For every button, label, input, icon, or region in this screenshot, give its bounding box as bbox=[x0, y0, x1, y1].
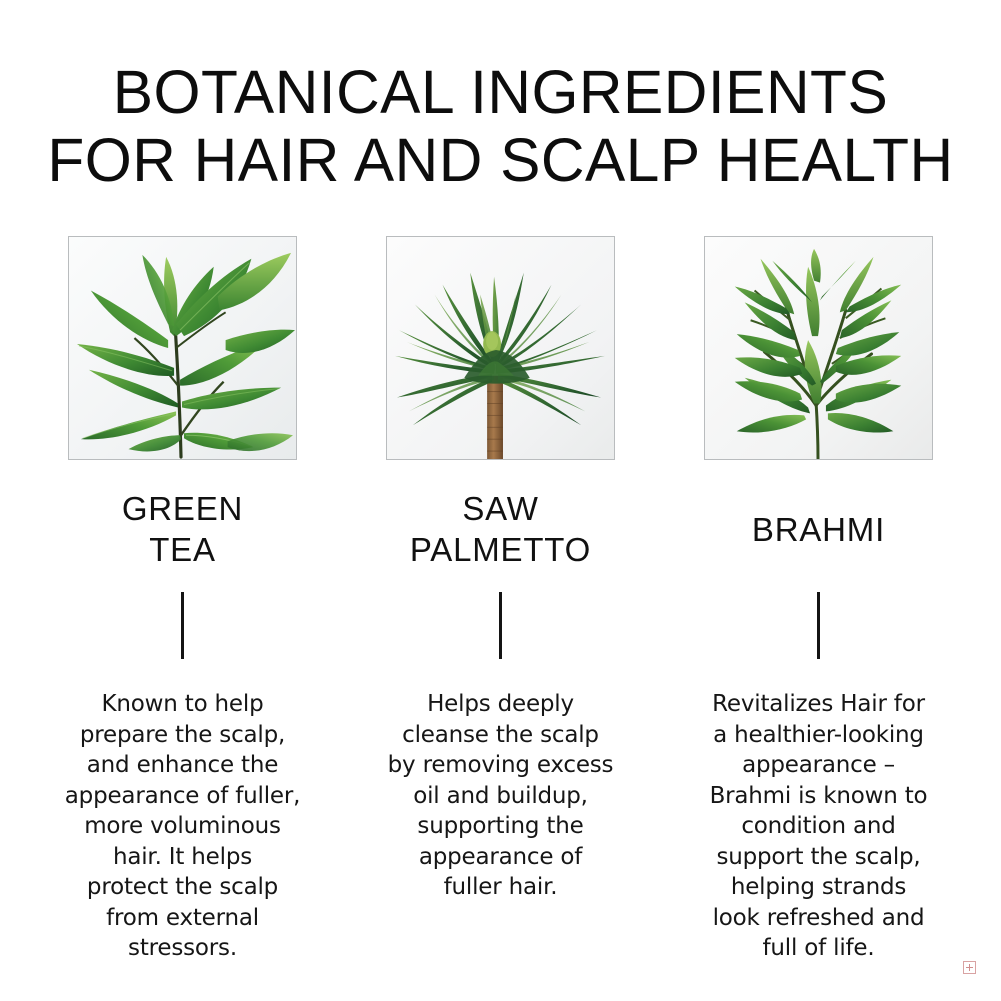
divider-line bbox=[817, 592, 820, 659]
page-title: BOTANICAL INGREDIENTS FOR HAIR AND SCALP… bbox=[0, 58, 1001, 194]
divider-line bbox=[499, 592, 502, 659]
saw-palmetto-plant-image bbox=[386, 236, 615, 460]
ingredient-name-green-tea: GREEN TEA bbox=[122, 488, 243, 570]
page-title-line-1: BOTANICAL INGREDIENTS bbox=[5, 58, 996, 126]
ingredient-description-green-tea: Known to help prepare the scalp, and enh… bbox=[49, 689, 317, 964]
page-title-line-2: FOR HAIR AND SCALP HEALTH bbox=[5, 126, 996, 194]
ingredient-card-brahmi: BRAHMI Revitalizes Hair for a healthier-… bbox=[664, 236, 974, 964]
plus-square-icon bbox=[963, 961, 976, 974]
brahmi-plant-image bbox=[704, 236, 933, 460]
ingredient-name-brahmi: BRAHMI bbox=[752, 488, 885, 570]
botanical-ingredients-infographic: BOTANICAL INGREDIENTS FOR HAIR AND SCALP… bbox=[0, 0, 1001, 1001]
divider-line bbox=[181, 592, 184, 659]
green-tea-plant-image bbox=[68, 236, 297, 460]
ingredient-name-saw-palmetto: SAW PALMETTO bbox=[410, 488, 591, 570]
ingredient-columns: GREEN TEA Known to help prepare the scal… bbox=[0, 236, 1001, 964]
ingredient-card-green-tea: GREEN TEA Known to help prepare the scal… bbox=[28, 236, 338, 964]
ingredient-card-saw-palmetto: SAW PALMETTO Helps deeply cleanse the sc… bbox=[346, 236, 656, 903]
ingredient-description-saw-palmetto: Helps deeply cleanse the scalp by removi… bbox=[367, 689, 635, 903]
ingredient-description-brahmi: Revitalizes Hair for a healthier-looking… bbox=[685, 689, 953, 964]
